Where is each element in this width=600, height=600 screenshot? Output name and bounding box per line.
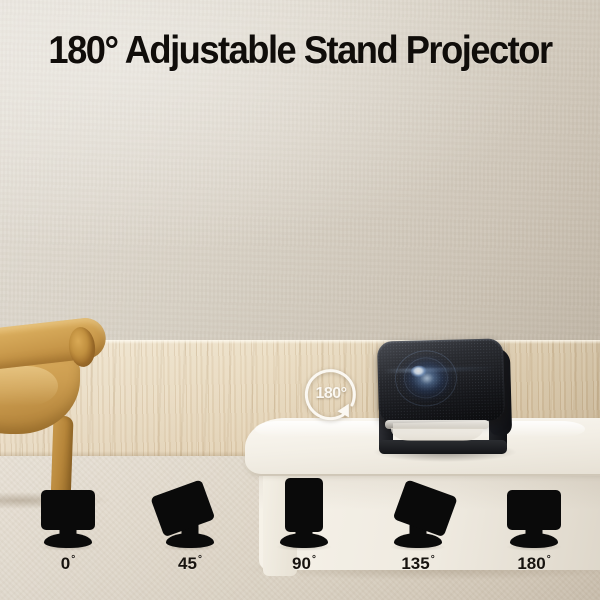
projector-stand-base [379,440,507,454]
projector-angle-icon-180 [488,478,580,554]
projector-body-shading [377,338,505,423]
angle-label-0: 0° [22,554,114,574]
wood-panel-seam [196,340,198,458]
angle-option-135[interactable]: 135° [372,478,464,590]
projector-angle-icon-45 [144,478,236,554]
angle-value: 135 [401,554,429,573]
page-title: 180° Adjustable Stand Projector [21,29,579,73]
degree-symbol: ° [431,554,435,565]
angle-icon-body [393,479,458,537]
angle-option-0[interactable]: 0° [22,478,114,590]
angle-label-90: 90° [258,554,350,574]
tan-lounge-chair [0,316,142,502]
projector-angle-icon-90 [258,478,350,554]
product-marketing-image: 180° Adjustable Stand Projector [0,0,600,600]
projector-angle-icon-135 [372,478,464,554]
angle-value: 90 [292,554,311,573]
angle-option-180[interactable]: 180° [488,478,580,590]
angle-label-135: 135° [372,554,464,574]
angle-icon-body [150,479,215,537]
angle-icon-body [285,478,323,532]
projector-stand-inner-slot [391,428,483,441]
angle-value: 45 [178,554,197,573]
angle-icon-body [41,490,95,530]
rotation-badge-label: 180° [299,385,363,403]
angle-label-180: 180° [488,554,580,574]
projector-stand-front-bar [385,420,489,429]
degree-symbol: ° [198,554,202,565]
degree-symbol: ° [71,554,75,565]
projector-body [377,338,505,423]
degree-symbol: ° [312,554,316,565]
angle-option-90[interactable]: 90° [258,478,350,590]
portable-projector [371,336,517,466]
rotation-badge: 180° [299,365,363,427]
projector-angle-icon-0 [22,478,114,554]
degree-symbol: ° [547,554,551,565]
angle-label-45: 45° [144,554,236,574]
angle-option-45[interactable]: 45° [144,478,236,590]
angle-value: 0 [61,554,70,573]
angle-option-row: 0° 45° 90° [0,478,600,590]
angle-icon-body [507,490,561,530]
angle-value: 180 [517,554,545,573]
